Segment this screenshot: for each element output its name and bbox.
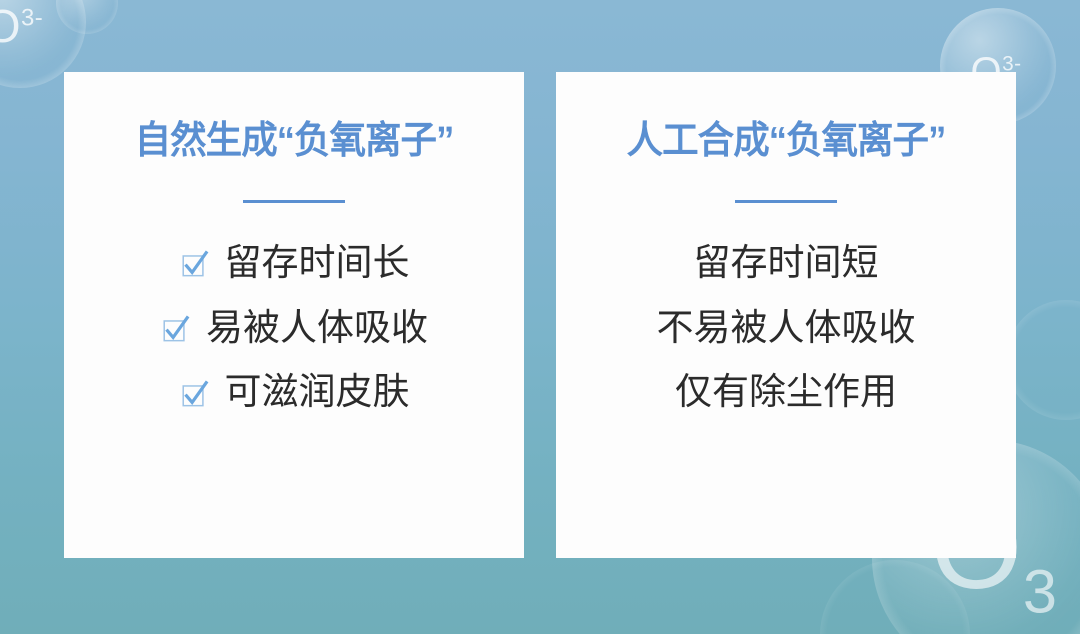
bubble-tl-label: O (0, 0, 21, 52)
card-natural-list: 留存时间长 易被人体吸收 可滋润皮肤 (160, 243, 428, 413)
poster-canvas: O3- O3- O3 自然生成“负氧离子” 留存时间长 (0, 0, 1080, 634)
bubble-tl-sup: 3- (21, 5, 43, 32)
list-item-label: 易被人体吸收 (206, 308, 428, 349)
list-item: 仅有除尘作用 (675, 372, 897, 413)
card-natural: 自然生成“负氧离子” 留存时间长 易被人体吸收 (64, 72, 524, 558)
card-artificial-divider (735, 200, 837, 203)
ozone-bubble-right-icon (1006, 300, 1080, 420)
bubble-br-sub: 3 (1023, 558, 1058, 627)
card-artificial-list: 留存时间短 不易被人体吸收 仅有除尘作用 (657, 243, 916, 413)
list-item: 留存时间短 (694, 243, 879, 284)
list-item-label: 不易被人体吸收 (657, 308, 916, 349)
card-natural-divider (243, 200, 345, 203)
list-item-label: 留存时间长 (225, 243, 410, 284)
list-item-label: 留存时间短 (694, 243, 879, 284)
check-box-icon (179, 378, 209, 408)
list-item-label: 仅有除尘作用 (675, 372, 897, 413)
list-item: 不易被人体吸收 (657, 308, 916, 349)
card-artificial-title: 人工合成“负氧离子” (627, 122, 946, 160)
card-natural-title: 自然生成“负氧离子” (135, 122, 454, 160)
check-box-icon (160, 313, 190, 343)
list-item: 易被人体吸收 (160, 308, 428, 349)
list-item: 留存时间长 (179, 243, 410, 284)
list-item-label: 可滋润皮肤 (225, 372, 410, 413)
card-artificial: 人工合成“负氧离子” 留存时间短 不易被人体吸收 仅有除尘作用 (556, 72, 1016, 558)
check-box-icon (179, 248, 209, 278)
list-item: 可滋润皮肤 (179, 372, 410, 413)
